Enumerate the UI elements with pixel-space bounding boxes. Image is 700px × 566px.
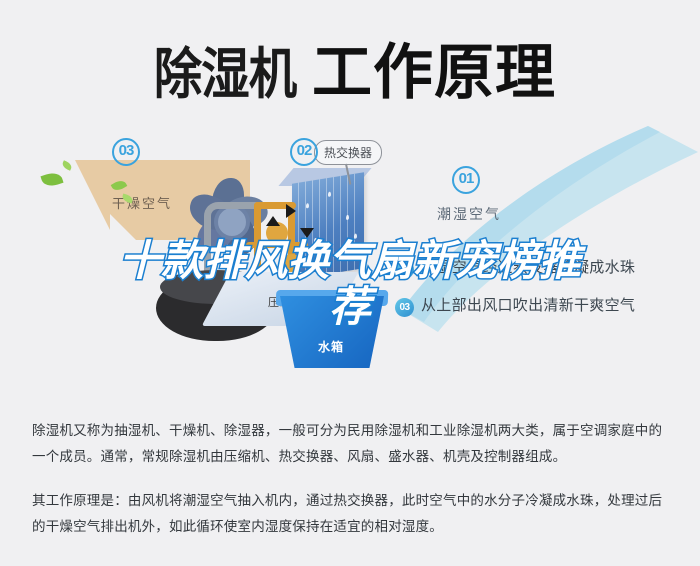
body-paragraph-2: 其工作原理是：由风机将潮湿空气抽入机内，通过热交换器，此时空气中的水分子冷凝成水… (32, 488, 672, 540)
legend-item: 02 潮湿空气经过蒸发器冷凝成水珠 (395, 258, 685, 279)
step-marker-02: 02 (290, 138, 318, 166)
water-tank-label: 水箱 (318, 338, 344, 355)
leaf-icon (40, 170, 63, 189)
page-title-part2: 工作原理 (312, 24, 556, 111)
airflow-swoosh (398, 122, 698, 382)
page-title: 除湿机工作原理 (0, 24, 700, 111)
leaf-icon (61, 160, 73, 171)
legend-text: 潮湿空气经过蒸发器冷凝成水珠 (421, 258, 635, 277)
arrow-head (75, 160, 115, 240)
flow-arrow-down-icon (300, 228, 314, 238)
legend-item: 03 从上部出风口吹出清新干爽空气 (395, 296, 685, 317)
dry-air-label: 干燥空气 (112, 193, 172, 212)
article-body: 除湿机又称为抽湿机、干燥机、除湿器，一般可分为民用除湿机和工业除湿机两大类，属于… (32, 418, 672, 558)
water-tank (280, 296, 384, 368)
heat-exchanger-callout: 热交换器 (314, 140, 382, 165)
legend-text: 从上部出风口吹出清新干爽空气 (421, 296, 635, 315)
legend-badge: 03 (395, 298, 414, 317)
step-marker-03: 03 (112, 138, 140, 166)
body-paragraph-1: 除湿机又称为抽湿机、干燥机、除湿器，一般可分为民用除湿机和工业除湿机两大类，属于… (32, 418, 672, 470)
step-marker-01: 01 (452, 166, 480, 194)
wet-air-label: 潮湿空气 (437, 204, 501, 224)
page-title-part1: 除湿机 (154, 29, 297, 109)
flow-arrow-up-icon (266, 216, 280, 226)
legend-badge: 02 (395, 260, 414, 279)
legend-list: 02 潮湿空气经过蒸发器冷凝成水珠 03 从上部出风口吹出清新干爽空气 (395, 258, 685, 334)
flow-arrow-right-icon (286, 204, 296, 218)
arrow-notch (110, 214, 136, 240)
infographic-page: 除湿机工作原理 干燥空气 (0, 0, 700, 566)
